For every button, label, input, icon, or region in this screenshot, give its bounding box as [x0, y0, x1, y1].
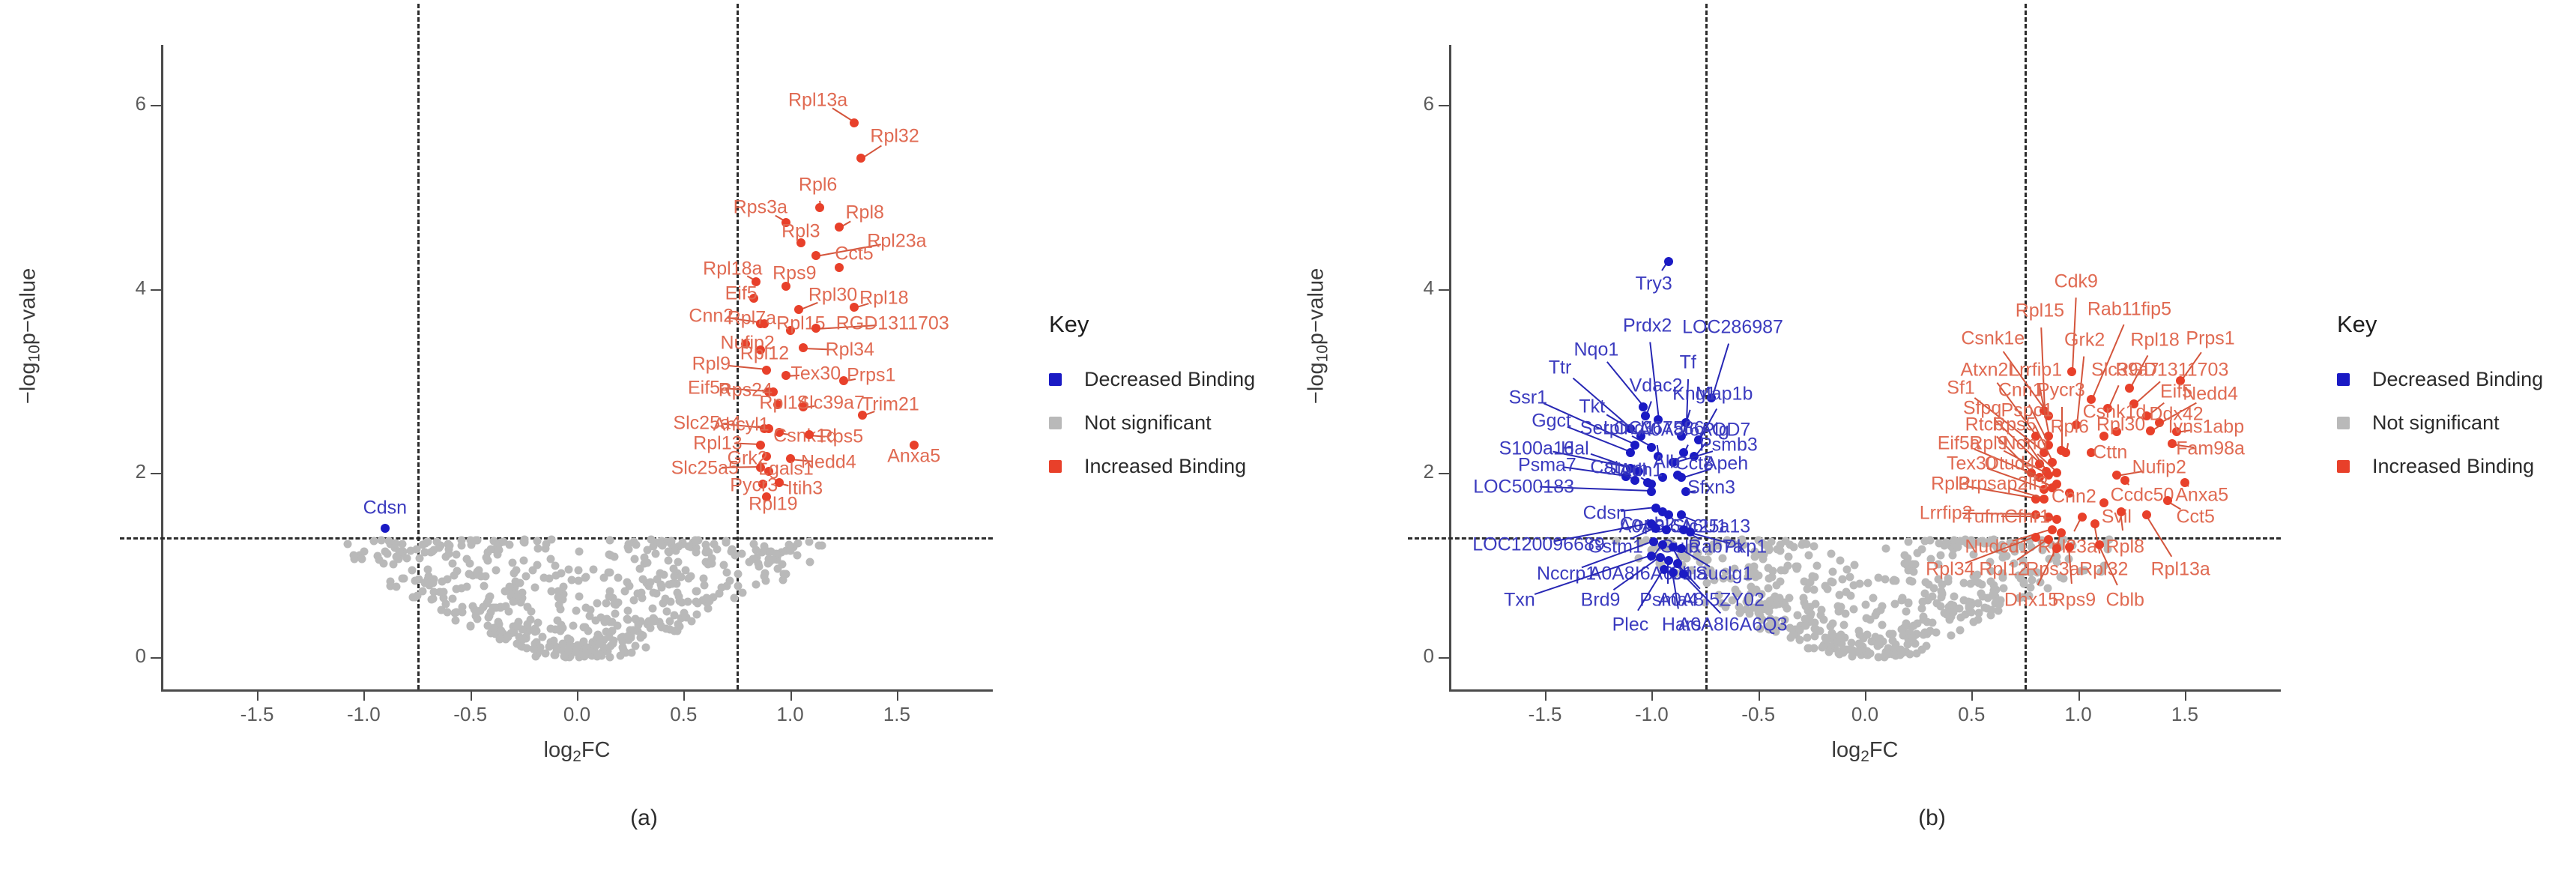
- gene-label: LOC286987: [1682, 317, 1783, 339]
- data-point-not-significant: [1863, 631, 1872, 639]
- data-point-not-significant: [468, 541, 476, 549]
- legend-label: Decreased Binding: [2372, 368, 2543, 391]
- data-point-not-significant: [513, 623, 521, 631]
- data-point-not-significant: [1897, 650, 1905, 658]
- data-point-decreased[interactable]: [1658, 540, 1667, 549]
- data-point-not-significant: [441, 600, 450, 608]
- data-point-increased[interactable]: [835, 223, 844, 232]
- data-point-not-significant: [377, 537, 385, 545]
- legend-label: Not significant: [1084, 411, 1212, 435]
- data-point-not-significant: [612, 601, 620, 609]
- data-point-not-significant: [551, 650, 560, 659]
- y-tick: [151, 289, 161, 291]
- data-point-not-significant: [1861, 600, 1869, 608]
- gene-label: Ivns1abp: [2168, 416, 2244, 438]
- data-point-increased[interactable]: [850, 118, 859, 127]
- data-point-not-significant: [761, 572, 769, 580]
- data-point-not-significant: [665, 557, 673, 565]
- panel-b-ylabel-sub: 10: [1313, 345, 1331, 362]
- gene-label: LOC500183: [1473, 476, 1574, 498]
- gene-label: Rpl18: [859, 287, 908, 309]
- panel-b-plot-area: Try3Prdx2LOC286987Nqo1TfTtrVdac2Kng1Map1…: [1449, 45, 2281, 689]
- data-point-increased[interactable]: [799, 343, 808, 352]
- data-point-not-significant: [592, 616, 600, 624]
- data-point-not-significant: [1902, 608, 1910, 616]
- data-point-not-significant: [383, 549, 391, 558]
- data-point-not-significant: [1839, 621, 1848, 629]
- gene-label: A0A8I6A6Q3: [1678, 614, 1788, 636]
- data-point-increased[interactable]: [2052, 515, 2061, 524]
- gene-label: Grk2: [2064, 330, 2105, 351]
- y-tick-label: 2: [1389, 460, 1434, 483]
- x-tick: [1651, 692, 1653, 701]
- data-point-increased[interactable]: [2052, 468, 2061, 477]
- data-point-not-significant: [692, 587, 700, 596]
- data-point-not-significant: [565, 566, 573, 574]
- x-tick-label: 0.5: [650, 703, 717, 726]
- x-tick-label: 0.0: [543, 703, 611, 726]
- data-point-increased[interactable]: [775, 478, 784, 487]
- data-point-decreased[interactable]: [1662, 525, 1671, 534]
- data-point-not-significant: [1785, 594, 1793, 602]
- data-point-not-significant: [605, 633, 613, 641]
- data-point-not-significant: [648, 604, 656, 612]
- data-point-not-significant: [717, 583, 725, 591]
- data-point-not-significant: [1943, 539, 1951, 547]
- data-point-not-significant: [572, 647, 580, 656]
- data-point-not-significant: [611, 609, 619, 617]
- gene-label: Tufm: [1963, 507, 2005, 528]
- data-point-not-significant: [1925, 581, 1933, 589]
- data-point-not-significant: [692, 597, 701, 605]
- x-tick: [790, 692, 792, 701]
- data-point-not-significant: [624, 632, 632, 641]
- data-point-not-significant: [1935, 539, 1943, 547]
- panel-b-ylabel-post: p−value: [1304, 268, 1328, 345]
- gene-label: Rpl19: [749, 494, 797, 516]
- data-point-not-significant: [646, 579, 654, 587]
- legend-item[interactable]: Increased Binding: [1049, 444, 1255, 488]
- data-point-not-significant: [567, 576, 575, 584]
- data-point-increased[interactable]: [2125, 384, 2134, 393]
- data-point-not-significant: [599, 573, 608, 581]
- data-point-increased[interactable]: [2031, 533, 2040, 542]
- y-tick: [151, 473, 161, 474]
- legend-item[interactable]: Increased Binding: [2337, 444, 2543, 488]
- gene-label: Eif5: [725, 283, 758, 304]
- data-point-not-significant: [734, 570, 742, 579]
- data-point-increased[interactable]: [2163, 496, 2172, 505]
- data-point-not-significant: [1805, 552, 1813, 560]
- data-point-not-significant: [1874, 653, 1882, 661]
- data-point-not-significant: [547, 555, 555, 563]
- data-point-decreased[interactable]: [1664, 257, 1673, 266]
- data-point-not-significant: [665, 548, 674, 556]
- data-point-increased[interactable]: [2057, 528, 2066, 537]
- data-point-increased[interactable]: [2040, 495, 2049, 504]
- data-point-not-significant: [414, 591, 422, 599]
- data-point-not-significant: [1851, 561, 1859, 569]
- data-point-not-significant: [1969, 618, 1977, 626]
- data-point-increased[interactable]: [2142, 510, 2151, 519]
- data-point-not-significant: [623, 615, 631, 623]
- data-point-not-significant: [1863, 614, 1871, 623]
- gene-label: Rpl3: [781, 221, 820, 243]
- data-point-not-significant: [786, 546, 794, 555]
- panel-a-legend: KeyDecreased BindingNot significantIncre…: [1049, 311, 1255, 488]
- gene-label: Rpl34: [826, 339, 874, 360]
- data-point-not-significant: [450, 572, 459, 580]
- data-point-not-significant: [1863, 579, 1872, 587]
- data-point-decreased[interactable]: [1649, 537, 1658, 546]
- data-point-not-significant: [602, 617, 610, 626]
- figure-root: Rpl13aRpl32Rpl6Rps3aRpl8Rpl3Rpl23aCct5Rp…: [0, 0, 2576, 870]
- data-point-not-significant: [692, 537, 700, 545]
- panel-b-ylabel-pre: −log: [1304, 362, 1328, 404]
- data-point-not-significant: [726, 576, 734, 584]
- data-point-not-significant: [408, 567, 416, 575]
- data-point-not-significant: [1910, 621, 1918, 629]
- data-point-increased[interactable]: [856, 154, 865, 163]
- legend-item[interactable]: Decreased Binding: [1049, 357, 1255, 401]
- gene-label: Rps9: [773, 262, 816, 284]
- panel-a-ylabel-sub: 10: [25, 345, 43, 362]
- data-point-increased[interactable]: [2044, 535, 2053, 544]
- data-point-not-significant: [1897, 596, 1905, 604]
- data-point-not-significant: [1875, 573, 1883, 581]
- data-point-not-significant: [501, 587, 510, 595]
- x-tick: [2078, 692, 2080, 701]
- gene-label: Trim21: [862, 394, 919, 416]
- data-point-not-significant: [430, 546, 438, 555]
- gene-label: Rpl6: [2051, 416, 2089, 438]
- panel-b-ylabel: −log10p−value: [1304, 178, 1332, 493]
- data-point-not-significant: [547, 536, 555, 544]
- data-point-not-significant: [684, 542, 692, 550]
- gene-label: Fam98a: [2176, 438, 2245, 460]
- gene-label: Tf: [1680, 351, 1696, 373]
- data-point-not-significant: [1812, 561, 1821, 570]
- gene-label: Cttn: [2093, 442, 2127, 464]
- data-point-not-significant: [1793, 611, 1801, 620]
- data-point-increased[interactable]: [2048, 525, 2057, 534]
- legend-label: Increased Binding: [1084, 455, 1246, 478]
- data-point-increased[interactable]: [2168, 439, 2177, 448]
- data-point-not-significant: [428, 596, 436, 604]
- data-point-not-significant: [1856, 580, 1864, 588]
- gene-label: Rpl30: [808, 285, 857, 306]
- data-point-not-significant: [593, 599, 602, 608]
- data-point-not-significant: [606, 536, 614, 544]
- data-point-not-significant: [596, 640, 604, 648]
- panel-a-xlabel-pre: log: [544, 738, 573, 762]
- gene-label: Rpl32: [870, 125, 919, 147]
- gene-label: Ttr: [1549, 357, 1572, 379]
- panel-a-caption: (a): [0, 806, 1288, 831]
- data-point-not-significant: [706, 559, 714, 567]
- data-point-increased[interactable]: [2117, 507, 2126, 516]
- data-point-not-significant: [424, 566, 432, 574]
- data-point-increased[interactable]: [762, 366, 771, 375]
- data-point-not-significant: [581, 573, 590, 581]
- data-point-not-significant: [710, 540, 718, 548]
- legend-swatch-icon: [2337, 417, 2350, 429]
- data-point-not-significant: [590, 566, 598, 574]
- gene-label: Anxa5: [2175, 484, 2228, 506]
- data-point-not-significant: [1850, 605, 1858, 613]
- data-point-decreased[interactable]: [1686, 528, 1695, 537]
- data-point-not-significant: [668, 580, 677, 588]
- data-point-decreased[interactable]: [1639, 402, 1648, 411]
- gene-label: Rpl15: [2016, 300, 2064, 322]
- data-point-not-significant: [626, 582, 634, 590]
- data-point-not-significant: [666, 617, 674, 626]
- data-point-decreased[interactable]: [1677, 473, 1686, 482]
- data-point-not-significant: [1965, 602, 1974, 610]
- data-point-not-significant: [728, 545, 736, 553]
- data-point-not-significant: [1819, 615, 1827, 623]
- data-point-not-significant: [1823, 585, 1831, 593]
- gene-label: Sfxn3: [1687, 477, 1735, 498]
- data-point-not-significant: [752, 580, 760, 588]
- data-point-not-significant: [1909, 633, 1917, 641]
- data-point-not-significant: [1777, 566, 1786, 574]
- x-tick: [1545, 692, 1546, 701]
- gene-label: Rps3a: [734, 197, 787, 219]
- panel-a-xlabel: log2FC: [161, 738, 993, 766]
- gene-label: Tkt: [1579, 396, 1605, 417]
- data-point-not-significant: [449, 559, 457, 567]
- data-point-not-significant: [667, 598, 675, 606]
- data-point-not-significant: [554, 587, 563, 596]
- data-point-increased[interactable]: [2065, 543, 2074, 552]
- data-point-not-significant: [457, 541, 465, 549]
- gene-label: Prps1: [847, 365, 895, 387]
- data-point-not-significant: [530, 644, 538, 653]
- data-point-not-significant: [1771, 600, 1780, 608]
- data-point-decreased[interactable]: [1626, 448, 1635, 457]
- data-point-increased[interactable]: [805, 430, 814, 439]
- data-point-not-significant: [1856, 631, 1864, 639]
- panel-b-xlabel-sub: 2: [1860, 748, 1869, 765]
- data-point-not-significant: [462, 582, 471, 590]
- panel-b-xlabel-post: FC: [1869, 738, 1899, 762]
- legend-title: Key: [1049, 311, 1255, 338]
- data-point-decreased[interactable]: [381, 524, 390, 533]
- data-point-not-significant: [559, 640, 567, 648]
- data-point-not-significant: [1888, 636, 1896, 644]
- y-tick: [1439, 473, 1449, 474]
- data-point-decreased[interactable]: [1651, 524, 1660, 533]
- data-point-not-significant: [1803, 634, 1811, 642]
- data-point-increased[interactable]: [2061, 448, 2070, 457]
- data-point-not-significant: [510, 570, 518, 578]
- data-point-increased[interactable]: [781, 371, 790, 380]
- gene-label: Ilf3: [2023, 474, 2048, 495]
- data-point-decreased[interactable]: [1673, 559, 1682, 568]
- data-point-not-significant: [527, 607, 535, 615]
- data-point-not-significant: [623, 606, 632, 614]
- gene-label: Ggct: [1532, 411, 1571, 432]
- panel-a-ylabel-post: p−value: [16, 268, 40, 345]
- data-point-not-significant: [643, 559, 651, 567]
- data-point-not-significant: [705, 596, 713, 605]
- data-point-not-significant: [1878, 621, 1887, 629]
- pvalue-threshold-line: [120, 537, 993, 540]
- data-point-not-significant: [533, 537, 542, 546]
- data-point-decreased[interactable]: [1669, 543, 1678, 552]
- data-point-increased[interactable]: [2067, 367, 2076, 376]
- data-point-not-significant: [1836, 631, 1845, 639]
- legend-item[interactable]: Not significant: [1049, 401, 1255, 444]
- data-point-not-significant: [629, 596, 638, 605]
- data-point-not-significant: [1869, 594, 1878, 602]
- data-point-not-significant: [1953, 543, 1962, 552]
- data-point-increased[interactable]: [2146, 426, 2155, 435]
- data-point-not-significant: [453, 551, 461, 559]
- y-tick-label: 4: [101, 277, 146, 300]
- data-point-not-significant: [737, 550, 746, 558]
- data-point-not-significant: [448, 594, 456, 602]
- data-point-increased[interactable]: [811, 251, 820, 260]
- data-point-not-significant: [805, 537, 813, 546]
- data-point-not-significant: [539, 573, 548, 581]
- data-point-not-significant: [538, 633, 546, 641]
- data-point-not-significant: [614, 574, 622, 582]
- gene-label: Sf1: [1947, 378, 1975, 399]
- gene-label: Slc39a7: [797, 392, 865, 414]
- legend-item[interactable]: Decreased Binding: [2337, 357, 2543, 401]
- gene-label: Cnn2: [2052, 486, 2096, 508]
- data-point-increased[interactable]: [2078, 513, 2087, 522]
- data-point-increased[interactable]: [2090, 519, 2099, 528]
- data-point-not-significant: [519, 635, 527, 644]
- panel-b-xlabel: log2FC: [1449, 738, 2281, 766]
- gene-label: Ssr1: [1509, 387, 1547, 408]
- gene-label: Cfhr1: [2004, 507, 2050, 528]
- data-point-not-significant: [1810, 586, 1818, 594]
- data-point-not-significant: [492, 566, 500, 574]
- data-point-increased[interactable]: [850, 303, 859, 312]
- gene-label: Prdx2: [1623, 315, 1672, 336]
- gene-label: Rpl18a: [703, 258, 762, 280]
- data-point-not-significant: [634, 621, 642, 629]
- fold-change-threshold-line-negative: [417, 4, 420, 689]
- gene-label: Nedd4: [2183, 383, 2238, 405]
- gene-label: Try3: [1636, 274, 1672, 295]
- data-point-not-significant: [731, 594, 739, 602]
- data-point-not-significant: [641, 643, 650, 651]
- data-point-not-significant: [680, 609, 689, 617]
- legend-swatch-icon: [1049, 460, 1062, 473]
- data-point-not-significant: [444, 550, 453, 558]
- panel-a-xlabel-post: FC: [581, 738, 611, 762]
- x-tick-label: -1.0: [1618, 703, 1685, 726]
- legend-item[interactable]: Not significant: [2337, 401, 2543, 444]
- data-point-not-significant: [657, 623, 665, 631]
- y-tick-label: 0: [1389, 644, 1434, 668]
- y-tick-label: 6: [101, 92, 146, 115]
- data-point-not-significant: [722, 537, 730, 545]
- data-point-not-significant: [606, 587, 614, 595]
- data-point-not-significant: [638, 593, 646, 602]
- data-point-not-significant: [531, 628, 539, 636]
- data-point-decreased[interactable]: [1664, 556, 1673, 565]
- gene-label: Suclg1: [1696, 564, 1753, 585]
- gene-label: Rpl12: [740, 342, 789, 364]
- gene-label: Rps9: [2052, 589, 2096, 611]
- data-point-not-significant: [508, 559, 516, 567]
- gene-label: Anxa5: [887, 446, 940, 468]
- data-point-not-significant: [1801, 622, 1809, 630]
- x-tick-label: 0.5: [1938, 703, 2005, 726]
- data-point-not-significant: [1776, 547, 1784, 555]
- data-point-not-significant: [1836, 557, 1844, 565]
- data-point-not-significant: [1784, 553, 1792, 561]
- data-point-not-significant: [1995, 599, 2004, 608]
- data-point-increased[interactable]: [2095, 540, 2104, 549]
- data-point-not-significant: [755, 559, 763, 567]
- data-point-decreased[interactable]: [1656, 553, 1665, 562]
- data-point-decreased[interactable]: [1669, 568, 1678, 577]
- data-point-increased[interactable]: [2052, 544, 2061, 553]
- data-point-decreased[interactable]: [1660, 565, 1669, 574]
- gene-label: Slc25a5: [671, 458, 739, 480]
- data-point-not-significant: [438, 577, 447, 585]
- gene-label: Tex30: [790, 363, 841, 384]
- data-point-not-significant: [1764, 605, 1772, 614]
- data-point-not-significant: [594, 650, 602, 659]
- gene-label: Rpl9: [692, 354, 731, 375]
- volcano-panel-a: Rpl13aRpl32Rpl6Rps3aRpl8Rpl3Rpl23aCct5Rp…: [0, 0, 1288, 870]
- data-point-decreased[interactable]: [1647, 487, 1656, 496]
- data-point-not-significant: [516, 579, 524, 587]
- panel-b-caption: (b): [1288, 806, 2576, 831]
- data-point-not-significant: [1789, 631, 1798, 639]
- y-tick: [1439, 657, 1449, 659]
- data-point-not-significant: [432, 537, 441, 546]
- data-point-decreased[interactable]: [1679, 570, 1688, 579]
- data-point-not-significant: [638, 576, 647, 584]
- x-tick: [363, 692, 365, 701]
- gene-label: Nqo1: [1573, 339, 1618, 360]
- y-tick-label: 4: [1389, 277, 1434, 300]
- data-point-not-significant: [1890, 576, 1899, 584]
- gene-label: Rpl32: [2079, 559, 2128, 581]
- data-point-not-significant: [1938, 593, 1946, 602]
- x-tick-label: -1.0: [330, 703, 397, 726]
- data-point-not-significant: [1938, 580, 1946, 588]
- data-point-not-significant: [487, 608, 495, 616]
- gene-label: Psma7: [1518, 455, 1576, 477]
- data-point-not-significant: [760, 543, 768, 551]
- legend-swatch-icon: [2337, 460, 2350, 473]
- data-point-increased[interactable]: [2112, 471, 2121, 480]
- data-point-decreased[interactable]: [1677, 544, 1686, 553]
- data-point-not-significant: [533, 561, 542, 570]
- x-tick-label: -1.5: [1511, 703, 1579, 726]
- data-point-not-significant: [1866, 650, 1874, 658]
- data-point-not-significant: [575, 593, 584, 601]
- data-point-not-significant: [1811, 625, 1819, 633]
- data-point-not-significant: [657, 540, 665, 549]
- x-tick-label: 0.0: [1831, 703, 1899, 726]
- gene-label: Rpl23a: [867, 230, 926, 252]
- data-point-increased[interactable]: [811, 324, 820, 333]
- data-point-increased[interactable]: [815, 203, 824, 212]
- data-point-not-significant: [395, 548, 403, 556]
- label-leader-line: [2145, 515, 2172, 557]
